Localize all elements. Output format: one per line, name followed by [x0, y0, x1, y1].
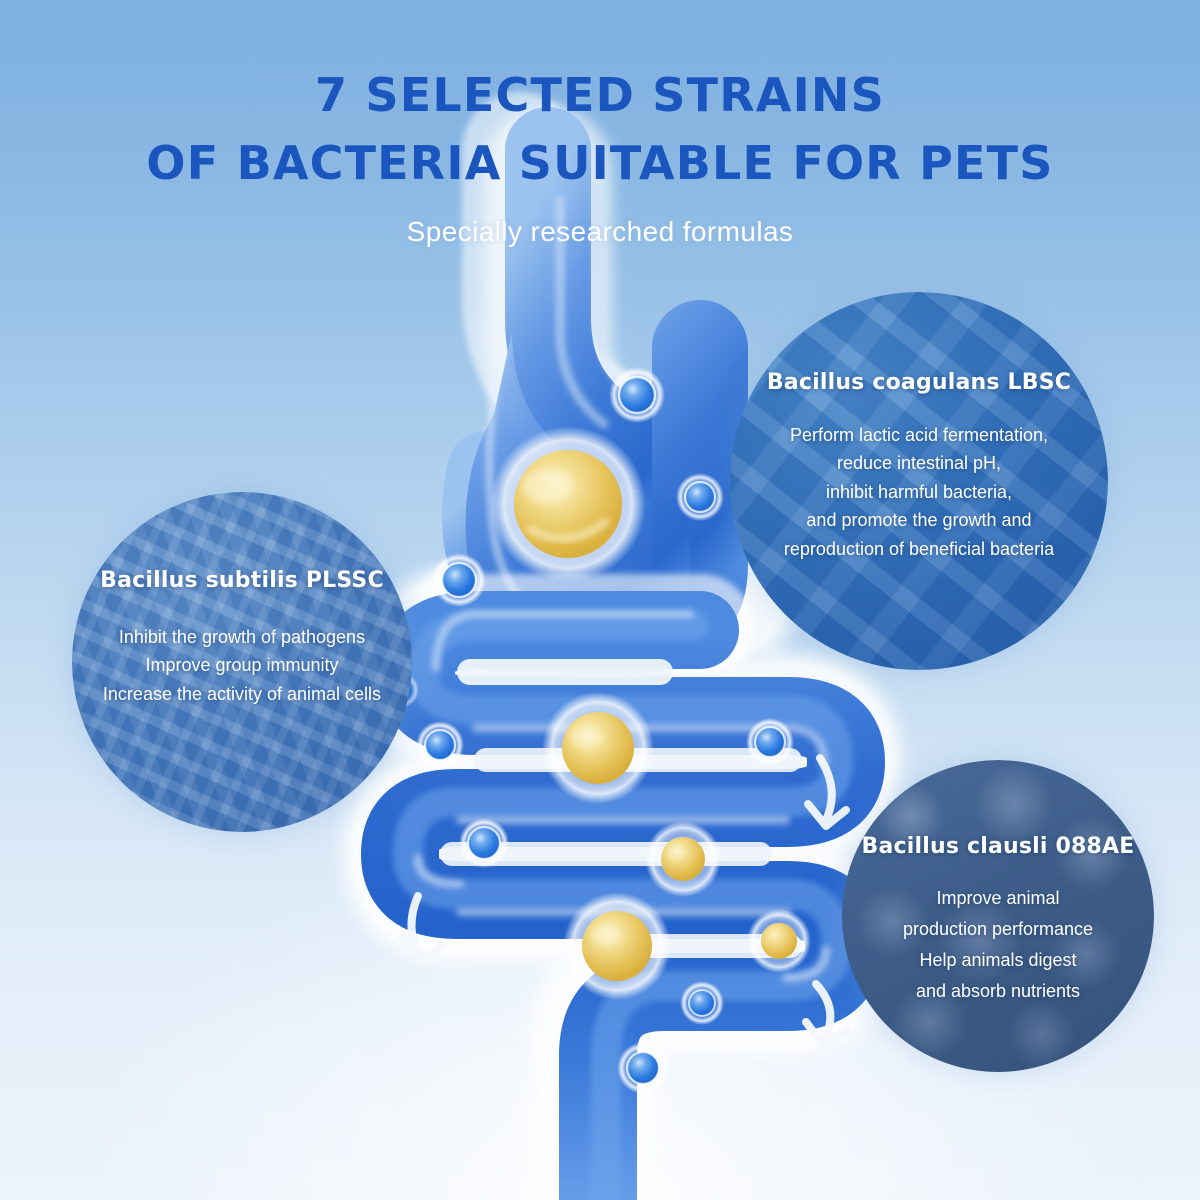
golden-sphere-loop1 — [542, 692, 654, 804]
title-line-1: 7 SELECTED STRAINS — [0, 0, 1200, 118]
subtitle: Specially researched formulas — [0, 216, 1200, 248]
blue-sphere-8 — [680, 981, 724, 1025]
blue-sphere-5 — [746, 718, 794, 766]
blue-sphere-3 — [432, 553, 486, 607]
callout-line: Improve group immunity — [86, 651, 399, 679]
callout-body-subtilis: Inhibit the growth of pathogens Improve … — [86, 623, 399, 708]
callout-line: inhibit harmful bacteria, — [745, 478, 1093, 506]
blue-sphere-2 — [676, 473, 724, 521]
callout-line: Improve animal — [854, 883, 1141, 914]
callout-content-coagulans: Bacillus coagulans LBSC Perform lactic a… — [745, 370, 1093, 563]
blue-sphere-4 — [416, 721, 464, 769]
blue-sphere-1 — [609, 367, 665, 423]
callout-line: Increase the activity of animal cells — [86, 680, 399, 708]
infographic-poster: 7 SELECTED STRAINS OF BACTERIA SUITABLE … — [0, 0, 1200, 1200]
callout-body-coagulans: Perform lactic acid fermentation, reduce… — [745, 421, 1093, 563]
golden-sphere-loop2 — [645, 821, 721, 897]
golden-sphere-large-stomach — [490, 426, 646, 582]
callout-bacillus-clausli[interactable]: Bacillus clausli 088AE Improve animal pr… — [842, 760, 1154, 1072]
heading-block: 7 SELECTED STRAINS OF BACTERIA SUITABLE … — [0, 0, 1200, 248]
callout-line: production performance — [854, 914, 1141, 945]
callout-line: and promote the growth and — [745, 506, 1093, 534]
callout-bacillus-subtilis[interactable]: Bacillus subtilis PLSSC Inhibit the grow… — [72, 492, 412, 832]
callout-line: Perform lactic acid fermentation, — [745, 421, 1093, 449]
title-line-2: OF BACTERIA SUITABLE FOR PETS — [0, 118, 1200, 186]
callout-line: reduce intestinal pH, — [745, 449, 1093, 477]
callout-line: and absorb nutrients — [854, 976, 1141, 1007]
callout-content-clausli: Bacillus clausli 088AE Improve animal pr… — [854, 834, 1141, 1007]
golden-sphere-loop4 — [747, 909, 811, 973]
callout-title-subtilis: Bacillus subtilis PLSSC — [86, 568, 399, 593]
callout-body-clausli: Improve animal production performance He… — [854, 883, 1141, 1007]
blue-sphere-6 — [459, 818, 509, 868]
callout-title-clausli: Bacillus clausli 088AE — [854, 834, 1141, 859]
callout-content-subtilis: Bacillus subtilis PLSSC Inhibit the grow… — [86, 568, 399, 708]
callout-line: Inhibit the growth of pathogens — [86, 623, 399, 651]
callout-bacillus-coagulans[interactable]: Bacillus coagulans LBSC Perform lactic a… — [730, 292, 1108, 670]
callout-title-coagulans: Bacillus coagulans LBSC — [745, 370, 1093, 395]
callout-line: Help animals digest — [854, 945, 1141, 976]
blue-sphere-7 — [617, 1042, 669, 1094]
callout-line: reproduction of beneficial bacteria — [745, 535, 1093, 563]
golden-sphere-loop3 — [563, 892, 671, 1000]
